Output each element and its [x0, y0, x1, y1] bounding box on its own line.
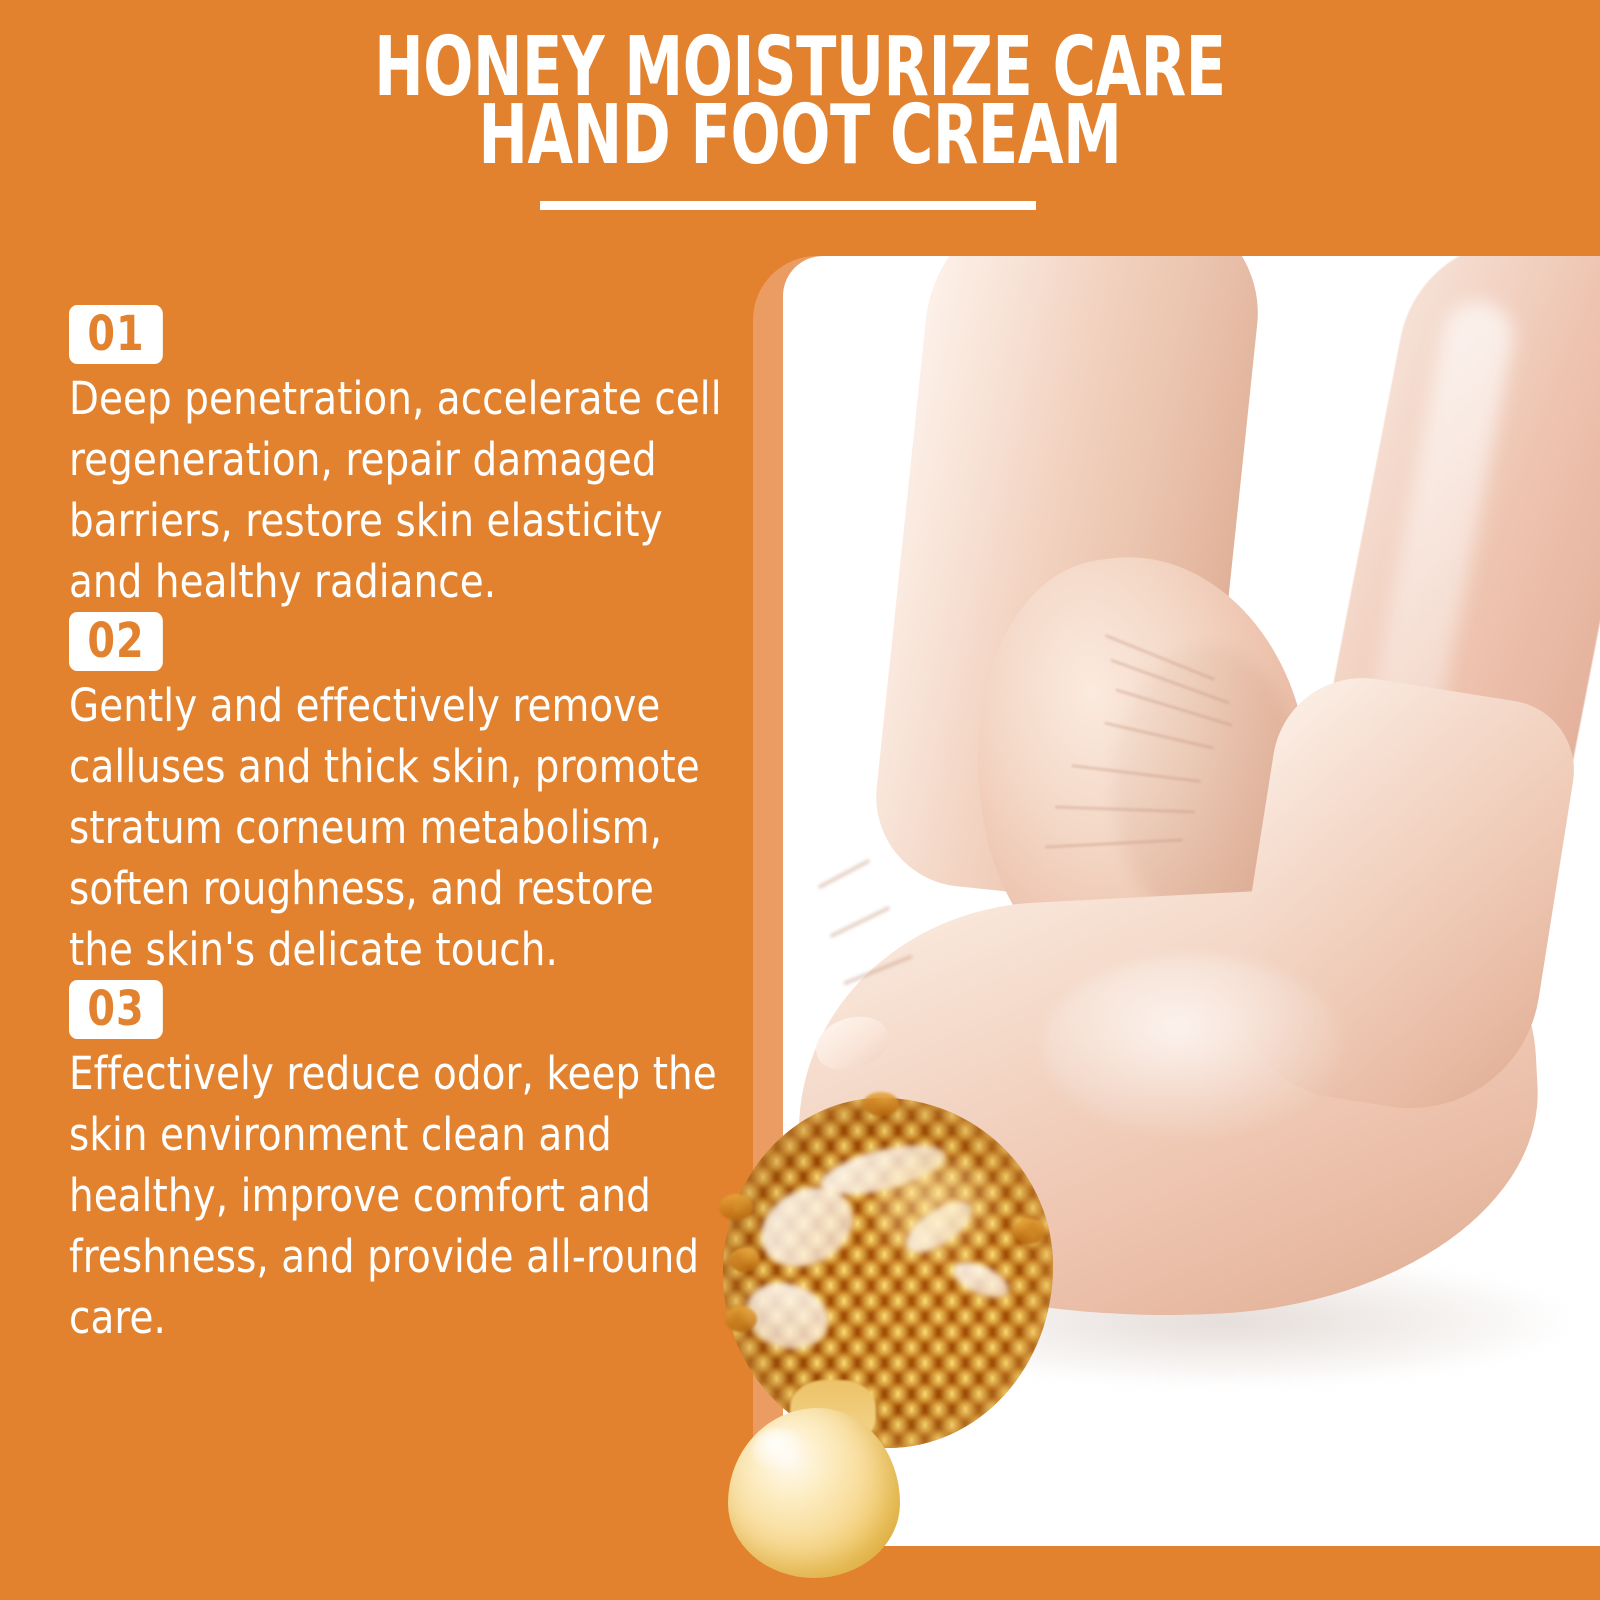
feature-number-badge-02: 02: [69, 612, 163, 671]
feature-item-01: 01 Deep penetration, accelerate cell reg…: [69, 305, 729, 612]
feature-text-02: Gently and effectively remove calluses a…: [69, 675, 722, 980]
honeycomb-edge-chunk: [725, 1306, 757, 1332]
feature-list: 01 Deep penetration, accelerate cell reg…: [69, 305, 729, 1348]
feature-item-03: 03 Effectively reduce odor, keep the ski…: [69, 980, 729, 1348]
honeycomb-edge-chunk: [729, 1248, 759, 1272]
feature-number-badge-01: 01: [69, 305, 163, 364]
instep-highlight: [1043, 956, 1343, 1136]
honeycomb-edge-chunk: [1013, 1218, 1045, 1244]
honeycomb-shape: [723, 1098, 1053, 1448]
honeycomb: [723, 1098, 1053, 1448]
feature-text-03: Effectively reduce odor, keep the skin e…: [69, 1043, 722, 1348]
title-line-2: HAND FOOT CREAM: [160, 102, 1440, 170]
honeycomb-rim: [723, 1098, 1053, 1448]
honey-drop-highlight: [752, 1428, 808, 1472]
honeycomb-edge-chunk: [863, 1092, 899, 1116]
feature-item-02: 02 Gently and effectively remove calluse…: [69, 612, 729, 980]
header-banner: HONEY MOISTURIZE CARE HAND FOOT CREAM: [0, 0, 1600, 232]
feature-text-01: Deep penetration, accelerate cell regene…: [69, 368, 722, 612]
feature-number-badge-03: 03: [69, 980, 163, 1039]
infographic-root: HONEY MOISTURIZE CARE HAND FOOT CREAM: [0, 0, 1600, 1600]
page-title: HONEY MOISTURIZE CARE HAND FOOT CREAM: [0, 34, 1600, 170]
title-underline-rule: [540, 201, 1036, 210]
